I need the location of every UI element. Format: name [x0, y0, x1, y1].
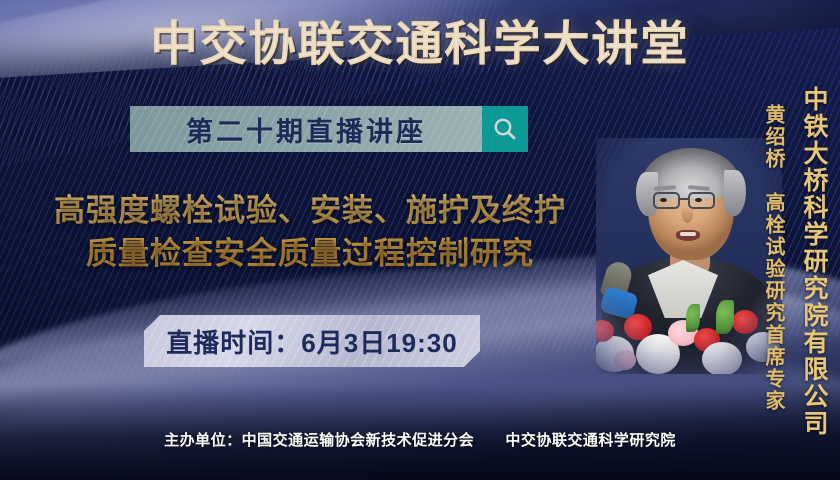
broadcast-time-text: 直播时间：6月3日19:30 — [166, 323, 457, 360]
organizer-suffix: 中交协联交通科学研究院 — [505, 432, 676, 449]
lecture-topic: 高强度螺栓试验、安装、施拧及终拧 质量检查安全质量过程控制研究 — [10, 190, 610, 276]
search-button[interactable] — [482, 106, 528, 152]
speaker-organization: 中铁大桥科学研究院有限公司 — [796, 86, 832, 437]
speaker-eye-left — [660, 198, 667, 202]
topic-line-2: 质量检查安全质量过程控制研究 — [10, 233, 610, 276]
speaker-mouth — [676, 230, 700, 241]
speaker-photo — [596, 138, 782, 374]
flower-leaf-1 — [716, 300, 734, 334]
search-icon — [492, 116, 518, 142]
subtitle-band: 第二十期直播讲座 — [130, 106, 482, 152]
flower-red-4 — [732, 310, 758, 334]
flower-white-3 — [702, 342, 742, 374]
organizer-prefix: 主办单位：中国交通运输协会新技术促进分会 — [164, 432, 474, 449]
flower-pink-2 — [614, 350, 636, 370]
flower-leaf-2 — [686, 304, 700, 332]
broadcast-time-badge: 直播时间：6月3日19:30 — [144, 315, 480, 367]
speaker-name-and-role: 黄绍桥 高栓试验研究首席专家 — [759, 104, 788, 412]
organizer-footer: 主办单位：中国交通运输协会新技术促进分会 中交协联交通科学研究院 — [0, 429, 840, 450]
subtitle-text: 第二十期直播讲座 — [186, 110, 426, 149]
speaker-nose — [682, 206, 693, 223]
topic-line-1: 高强度螺栓试验、安装、施拧及终拧 — [54, 193, 566, 228]
live-lecture-poster: 中交协联交通科学大讲堂 第二十期直播讲座 高强度螺栓试验、安装、施拧及终拧 质量… — [0, 0, 840, 480]
page-title: 中交协联交通科学大讲堂 — [0, 20, 840, 67]
glasses-bridge — [680, 198, 688, 200]
flower-bouquet — [596, 306, 782, 374]
speaker-eye-right — [695, 198, 702, 202]
